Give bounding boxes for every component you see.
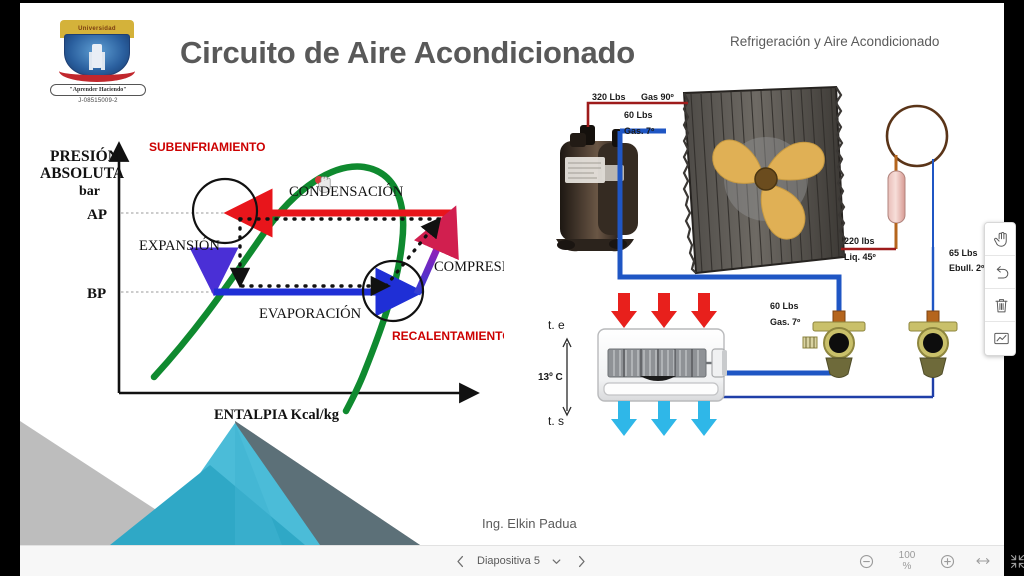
annotation-compresion: COMPRESIÓN — [434, 258, 504, 275]
crest-arc — [59, 60, 135, 82]
previous-slide-button[interactable] — [452, 552, 468, 570]
label-valve-pressure: 60 Lbs — [770, 301, 799, 311]
y-tick-ap: AP — [87, 207, 107, 223]
fit-width-button[interactable] — [974, 553, 991, 570]
draw-tool[interactable] — [985, 322, 1016, 355]
y-axis-label-line2: ABSOLUTA — [40, 165, 125, 182]
university-logo: Universidad "Aprender Haciendo" J-085150… — [44, 8, 152, 108]
annotation-expansion: EXPANSIÓN — [139, 237, 220, 254]
slide-navigation-group[interactable]: Diapositiva 5 — [452, 552, 590, 570]
y-axis-label-line3: bar — [79, 184, 100, 199]
label-valve-temp: Gas. 7º — [770, 317, 801, 327]
label-discharge-temp: Gas 90º — [641, 92, 675, 102]
page-title: Circuito de Aire Acondicionado — [180, 35, 720, 71]
annotation-recalentamiento: RECALENTAMIENTO — [392, 329, 504, 343]
annotation-evaporacion: EVAPORACIÓN — [259, 305, 362, 322]
cold-air-arrows — [611, 401, 717, 436]
y-tick-bp: BP — [87, 286, 106, 302]
label-evap-temp: Ebull. 2º — [949, 263, 985, 273]
label-air-outlet-temp: t. s — [548, 414, 564, 428]
service-valve-suction — [803, 311, 865, 378]
filter-drier-assembly — [887, 106, 947, 249]
label-evap-pressure: 65 Lbs — [949, 248, 978, 258]
letterbox-top — [0, 0, 1024, 3]
label-air-inlet-temp: t. e — [548, 318, 565, 332]
decorative-triangles — [20, 403, 420, 545]
zoom-out-button[interactable] — [858, 553, 875, 570]
pan-hand-tool[interactable] — [985, 223, 1016, 256]
label-suction-pressure: 60 Lbs — [624, 110, 653, 120]
floating-annotation-toolbar[interactable] — [984, 222, 1016, 356]
annotation-condensacion: CONDENSACIÓN — [289, 183, 404, 200]
pressure-enthalpy-chart: PRESIÓN ABSOLUTA bar AP BP ENTALPIA Kcal… — [24, 123, 504, 433]
slide-dropdown-button[interactable] — [549, 552, 565, 570]
crest-icon: Universidad — [60, 20, 134, 84]
zoom-in-button[interactable] — [939, 553, 956, 570]
delete-tool[interactable] — [985, 289, 1016, 322]
temperature-delta-indicator — [563, 339, 571, 415]
slide-indicator-label: Diapositiva 5 — [477, 555, 540, 567]
viewer-bottom-toolbar[interactable]: Diapositiva 5 100 % — [20, 545, 1004, 576]
next-slide-button[interactable] — [574, 552, 590, 570]
presentation-viewer: Universidad "Aprender Haciendo" J-085150… — [0, 0, 1024, 576]
course-subtitle: Refrigeración y Aire Acondicionado — [730, 34, 939, 49]
label-liquid-temp: Liq. 45º — [844, 252, 877, 262]
label-discharge-pressure: 320 Lbs — [592, 92, 626, 102]
label-delta-temp: 13º C — [538, 372, 563, 383]
label-liquid-pressure: 220 lbs — [844, 236, 875, 246]
annotation-subenfriamiento: SUBENFRIAMIENTO — [149, 140, 265, 154]
letterbox-left — [0, 0, 20, 576]
indoor-unit — [598, 329, 727, 401]
warm-air-arrows — [611, 293, 717, 328]
compressor — [556, 125, 638, 251]
label-suction-temp: Gas. 7º — [624, 126, 655, 136]
fit-screen-button[interactable] — [1009, 553, 1024, 570]
zoom-controls-group[interactable]: 100 % — [858, 550, 1024, 572]
undo-tool[interactable] — [985, 256, 1016, 289]
y-axis-label-line1: PRESIÓN — [50, 148, 119, 165]
service-valve-liquid — [909, 311, 957, 378]
slide-canvas[interactable]: Universidad "Aprender Haciendo" J-085150… — [20, 3, 1004, 545]
logo-motto: "Aprender Haciendo" — [50, 84, 146, 96]
author-byline: Ing. Elkin Padua — [482, 516, 577, 531]
zoom-level-label: 100 % — [893, 550, 921, 572]
logo-rif: J-08515009-2 — [50, 98, 146, 104]
refrigeration-circuit-diagram: 320 Lbs Gas 90º 60 Lbs Gas. 7º 220 lbs L… — [536, 81, 1004, 453]
